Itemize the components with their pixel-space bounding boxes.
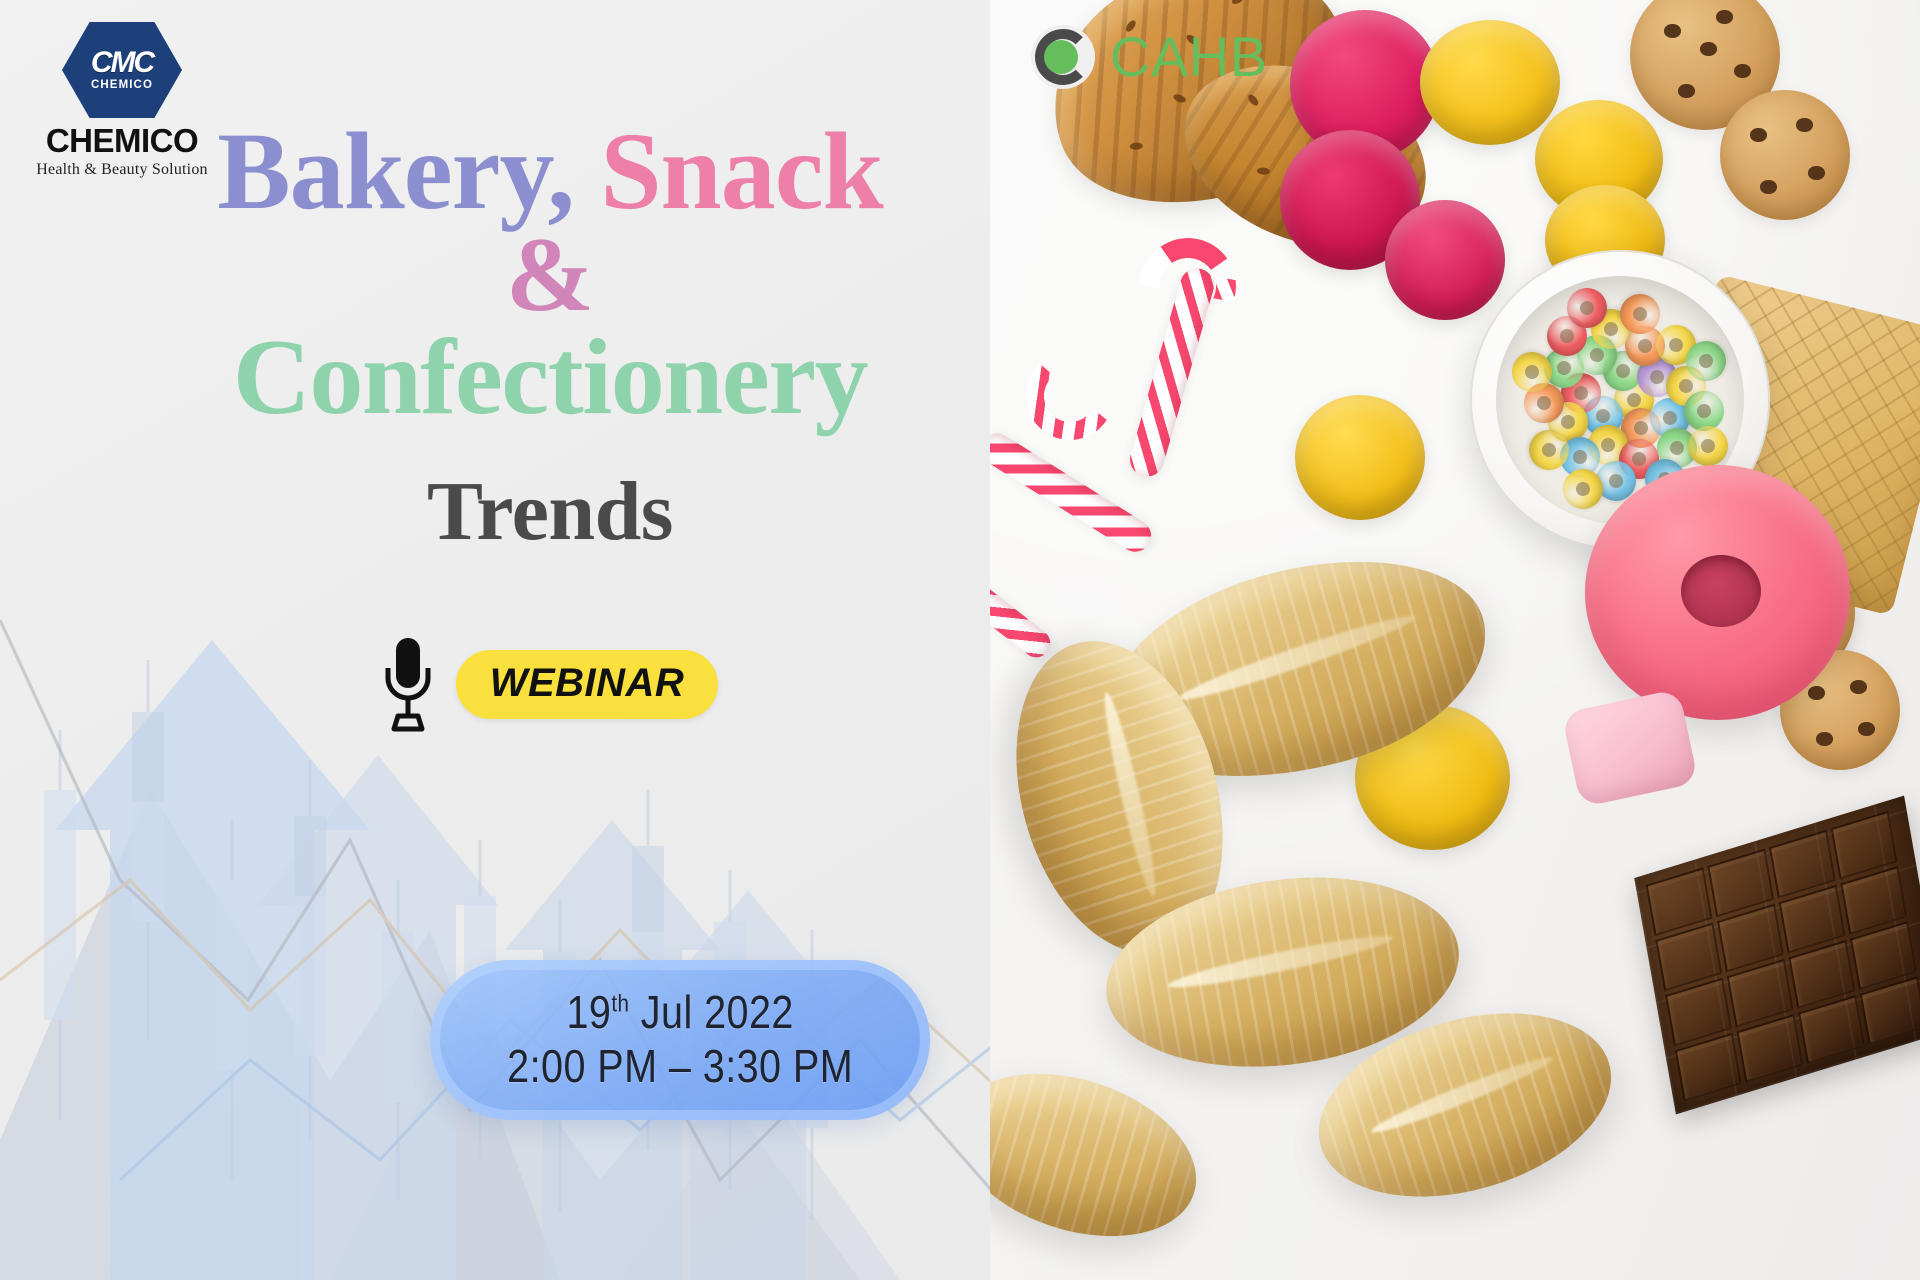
candy-cane-icon	[1126, 264, 1218, 480]
chocolate-chip-cookie-icon	[1720, 90, 1850, 220]
webinar-badge: WEBINAR	[456, 650, 719, 719]
candy-cane-hook-icon	[1008, 334, 1132, 458]
candlestick-bars	[44, 660, 828, 1220]
webinar-poster: CMC CHEMICO CHEMICO Health & Beauty Solu…	[0, 0, 1920, 1280]
bread-roll-icon	[990, 1045, 1217, 1265]
cmc-monogram: CMC	[91, 49, 153, 76]
headline-ampersand: &	[190, 222, 910, 328]
cahb-logo: CAHB	[1030, 24, 1268, 90]
yellow-macaron-icon	[1295, 395, 1425, 520]
headline-confectionery: Confectionery	[190, 328, 910, 428]
page-title: Bakery, Snack & Confectionery Trends	[190, 120, 910, 551]
cahb-circle-icon	[1030, 24, 1096, 90]
event-date-rest: Jul 2022	[629, 986, 793, 1038]
webinar-row: WEBINAR	[190, 636, 910, 732]
event-date-ordinal: th	[611, 991, 629, 1018]
donut-hole	[1681, 555, 1761, 627]
event-time: 2:00 PM – 3:30 PM	[507, 1042, 853, 1092]
headline-snack: Snack	[600, 110, 882, 232]
cahb-wordmark: CAHB	[1110, 29, 1268, 85]
event-datetime-pill: 19th Jul 2022 2:00 PM – 3:30 PM	[430, 960, 930, 1120]
cmc-hexagon-icon: CMC CHEMICO	[62, 22, 182, 118]
event-date: 19th Jul 2022	[566, 988, 793, 1038]
cmc-hexagon-subtext: CHEMICO	[91, 79, 153, 91]
cereal-loop	[1686, 424, 1731, 469]
candy-cane-icon	[990, 567, 1056, 663]
headline-line-1: Bakery, Snack	[190, 120, 910, 222]
crimson-macaron-icon	[1385, 200, 1505, 320]
marshmallow-icon	[1561, 689, 1698, 808]
pink-glazed-donut-icon	[1585, 465, 1850, 720]
event-date-day: 19	[566, 986, 611, 1038]
headline-bakery: Bakery,	[217, 110, 574, 232]
microphone-icon	[382, 636, 434, 732]
chocolate-bar-icon	[1634, 796, 1920, 1115]
headline-trends: Trends	[190, 473, 910, 551]
food-collage-photo	[990, 0, 1920, 1280]
yellow-macaron-icon	[1420, 20, 1560, 145]
